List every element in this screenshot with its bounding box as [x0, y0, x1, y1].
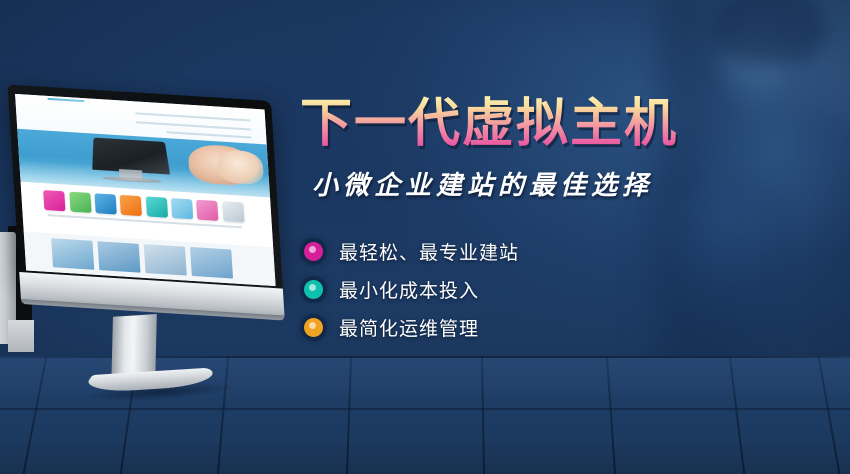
feature-label: 最简化运维管理: [339, 314, 479, 341]
website-app-icon: [120, 195, 142, 216]
website-hero-portrait-b: [217, 149, 264, 185]
website-app-icon: [94, 194, 116, 215]
website-nav-line: [136, 121, 251, 130]
monitor-stand-neck: [111, 314, 156, 379]
filled-dot-icon: [304, 280, 323, 299]
list-item: 最简化运维管理: [304, 308, 840, 346]
website-nav-line: [166, 131, 251, 138]
website-app-icon: [171, 198, 193, 219]
banner-text-block: 下一代虚拟主机 小微企业建站的最佳选择 最轻松、最专业建站 最小化成本投入 最简…: [300, 96, 840, 346]
hero-banner: 下一代虚拟主机 小微企业建站的最佳选择 最轻松、最专业建站 最小化成本投入 最简…: [0, 0, 850, 474]
website-app-icon: [69, 192, 91, 213]
website-logo: [48, 98, 86, 103]
filled-dot-icon: [304, 242, 323, 261]
feature-label: 最轻松、最专业建站: [339, 238, 519, 265]
monitor-screen: [15, 94, 276, 286]
website-thumbnail: [51, 238, 94, 270]
page-subtitle: 小微企业建站的最佳选择: [312, 165, 840, 202]
website-thumbnail-row: [51, 238, 232, 279]
website-hero-product: [93, 137, 171, 174]
website-app-icon: [196, 200, 218, 221]
website-thumbnail: [98, 241, 141, 273]
website-app-icon: [222, 202, 244, 223]
list-item: 最小化成本投入: [304, 270, 840, 308]
website-app-icon: [43, 190, 65, 211]
feature-list: 最轻松、最专业建站 最小化成本投入 最简化运维管理: [304, 232, 840, 346]
website-thumbnail: [144, 244, 187, 276]
website-nav-line: [135, 112, 250, 121]
filled-dot-icon: [304, 318, 323, 337]
imac-display: [8, 84, 301, 413]
website-app-icon: [145, 197, 167, 218]
feature-label: 最小化成本投入: [339, 276, 479, 303]
website-thumbnail: [190, 247, 233, 279]
page-title: 下一代虚拟主机: [300, 96, 840, 153]
list-item: 最轻松、最专业建站: [304, 232, 840, 270]
monitor-bezel: [7, 84, 283, 296]
floor-horizontal-line: [0, 408, 850, 410]
